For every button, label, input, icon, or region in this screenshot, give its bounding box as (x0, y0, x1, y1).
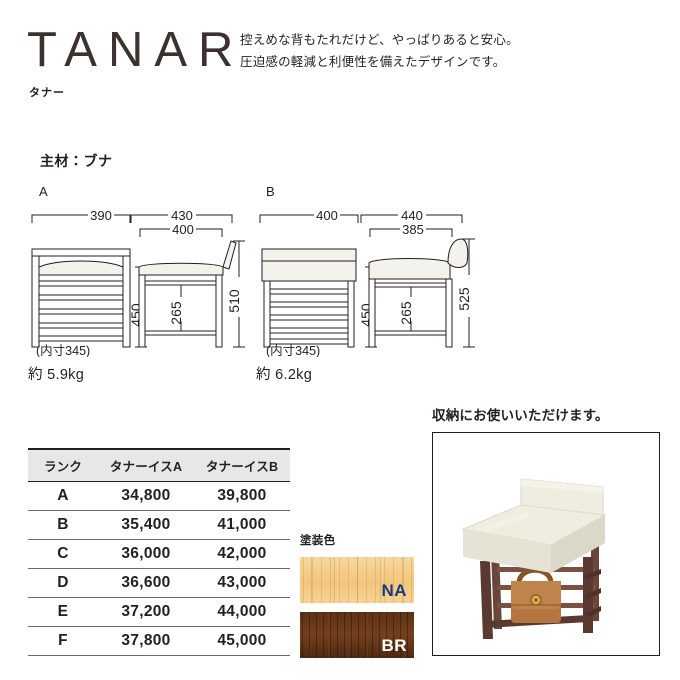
finish-section-label: 塗装色 (300, 532, 420, 548)
column-header-rank: ランク (28, 449, 98, 482)
cell-price-b: 39,800 (194, 482, 290, 511)
technical-drawing-variant-b: 400 440 385 450 (内寸345) (248, 205, 483, 355)
cell-rank: A (28, 482, 98, 511)
description-line-1: 控えめな背もたれだけど、やっぱりあると安心。 (240, 29, 540, 51)
dim-inner-width-a: (内寸345) (36, 344, 90, 357)
dim-inner-width-b: (内寸345) (266, 344, 320, 357)
dim-under-height-b: 265 (398, 301, 414, 325)
price-table-container: ランク タナーイスA タナーイスB A 34,800 39,800 B 35,4… (28, 448, 290, 656)
cell-price-a: 35,400 (98, 511, 194, 540)
dim-width-b: 400 (316, 208, 338, 223)
dim-width-a: 390 (90, 208, 112, 223)
dim-under-height-a: 265 (168, 301, 184, 325)
table-row: D 36,600 43,000 (28, 569, 290, 598)
cell-price-b: 41,000 (194, 511, 290, 540)
cell-rank: C (28, 540, 98, 569)
finish-color-section: 塗装色 NA BR (300, 532, 420, 658)
price-table: ランク タナーイスA タナーイスB A 34,800 39,800 B 35,4… (28, 448, 290, 656)
finish-swatch-na[interactable]: NA (300, 557, 414, 603)
dim-depth-inner-a: 400 (172, 222, 194, 237)
page-header: TANAR タナー 控えめな背もたれだけど、やっぱりあると安心。 圧迫感の軽減と… (0, 0, 680, 120)
storage-photo-section: 収納にお使いいただけます。 (432, 404, 660, 656)
weight-label-b: 約 6.2kg (256, 363, 312, 384)
chair-with-bag-photo (433, 433, 659, 655)
dim-depth-outer-b: 440 (401, 208, 423, 223)
cell-price-a: 34,800 (98, 482, 194, 511)
cell-rank: E (28, 598, 98, 627)
cell-price-b: 45,000 (194, 627, 290, 656)
table-header-row: ランク タナーイスA タナーイスB (28, 449, 290, 482)
variant-label-a: A (39, 184, 48, 199)
cell-price-a: 36,000 (98, 540, 194, 569)
brand-title: TANAR (27, 24, 244, 76)
cell-rank: B (28, 511, 98, 540)
cell-price-b: 43,000 (194, 569, 290, 598)
cell-rank: D (28, 569, 98, 598)
storage-photo-frame (432, 432, 660, 656)
description-line-2: 圧迫感の軽減と利便性を備えたデザインです。 (240, 51, 540, 73)
material-label: 主材：ブナ (40, 151, 113, 171)
dim-depth-outer-a: 430 (171, 208, 193, 223)
weight-label-a: 約 5.9kg (28, 363, 84, 384)
cell-price-b: 42,000 (194, 540, 290, 569)
cell-price-a: 37,800 (98, 627, 194, 656)
column-header-chair-b: タナーイスB (194, 449, 290, 482)
dim-depth-inner-b: 385 (402, 222, 424, 237)
column-header-chair-a: タナーイスA (98, 449, 194, 482)
table-row: E 37,200 44,000 (28, 598, 290, 627)
finish-swatch-na-code: NA (381, 581, 407, 601)
table-row: C 36,000 42,000 (28, 540, 290, 569)
table-row: A 34,800 39,800 (28, 482, 290, 511)
cell-price-a: 37,200 (98, 598, 194, 627)
cell-price-a: 36,600 (98, 569, 194, 598)
finish-swatch-br-code: BR (381, 636, 407, 656)
cell-price-b: 44,000 (194, 598, 290, 627)
dim-total-height-b: 525 (456, 287, 472, 311)
table-row: F 37,800 45,000 (28, 627, 290, 656)
finish-swatch-br[interactable]: BR (300, 612, 414, 658)
cell-rank: F (28, 627, 98, 656)
product-description: 控えめな背もたれだけど、やっぱりあると安心。 圧迫感の軽減と利便性を備えたデザイ… (240, 29, 540, 73)
table-row: B 35,400 41,000 (28, 511, 290, 540)
price-table-body: A 34,800 39,800 B 35,400 41,000 C 36,000… (28, 482, 290, 656)
storage-photo-caption: 収納にお使いいただけます。 (432, 404, 660, 424)
technical-drawing-variant-a: 390 430 400 450 (内寸345) (20, 205, 250, 355)
dim-total-height-a: 510 (226, 289, 242, 313)
brand-subtitle: タナー (29, 84, 65, 100)
variant-label-b: B (266, 184, 275, 199)
